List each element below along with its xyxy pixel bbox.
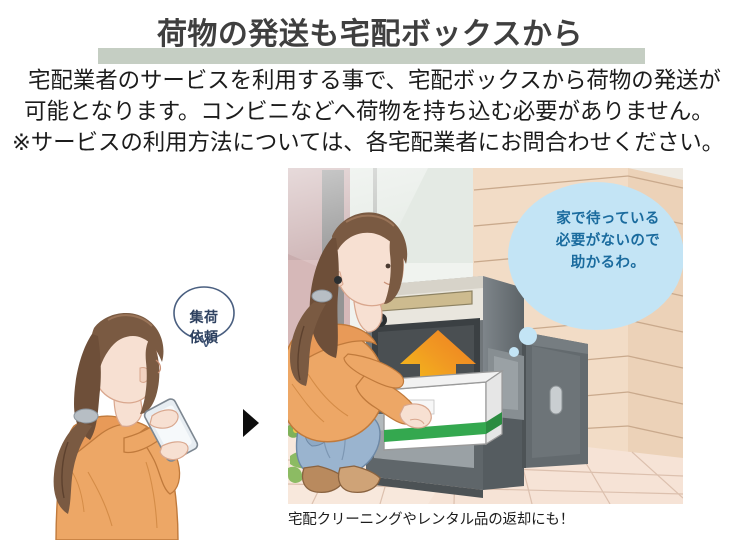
thought-line-3: 助かるわ。 <box>571 255 646 271</box>
title-block: 荷物の発送も宅配ボックスから <box>0 10 740 60</box>
page-title: 荷物の発送も宅配ボックスから <box>0 18 740 52</box>
thought-line-1: 家で待っている <box>556 211 660 227</box>
body-line-1: 宅配業者のサービスを利用する事で、宅配ボックスから荷物の発送が <box>12 65 728 96</box>
woman-figure-illustration <box>54 313 200 540</box>
request-bubble-line-2: 依頼 <box>190 329 219 345</box>
body-line-2: 可能となります。コンビニなどへ荷物を持ち込む必要がありません。 <box>12 96 728 127</box>
thought-line-2: 必要がないので <box>556 233 660 249</box>
request-bubble-text: 集荷 依頼 <box>172 307 236 347</box>
right-illustration: 家で待っている 必要がないので 助かるわ。 <box>288 168 683 504</box>
illustration-caption: 宅配クリーニングやレンタル品の返却にも！ <box>288 508 688 529</box>
play-triangle-icon <box>243 409 259 437</box>
thought-bubble-text: 家で待っている 必要がないので 助かるわ。 <box>528 208 683 274</box>
request-speech-bubble: 集荷 依頼 <box>172 285 236 347</box>
body-paragraph: 宅配業者のサービスを利用する事で、宅配ボックスから荷物の発送が 可能となります。… <box>12 65 728 158</box>
slide-page: 荷物の発送も宅配ボックスから 宅配業者のサービスを利用する事で、宅配ボックスから… <box>0 0 740 540</box>
request-bubble-line-1: 集荷 <box>190 309 219 325</box>
delivery-box-open-door <box>522 332 588 468</box>
body-line-3: ※サービスの利用方法については、各宅配業者にお問合わせください。 <box>12 127 728 158</box>
